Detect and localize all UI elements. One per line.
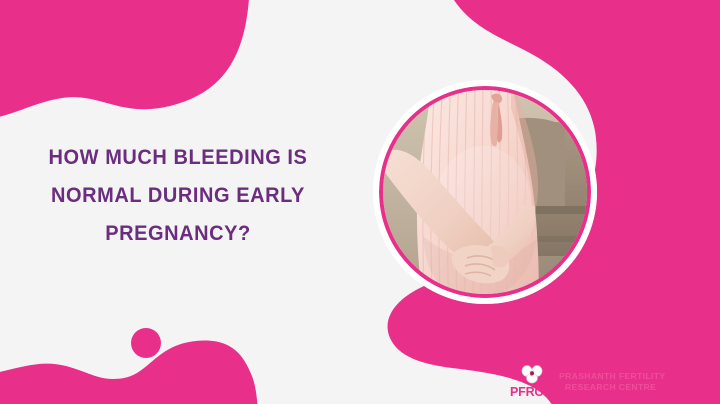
logo-name: PRASHANTH FERTILITY RESEARCH CENTRE: [559, 371, 665, 394]
headline-line-3: PREGNANCY?: [18, 214, 338, 252]
hero-photo-clip: [379, 86, 591, 298]
flower-emblem-icon: [521, 365, 543, 384]
headline-line-2: NORMAL DURING EARLY: [18, 176, 338, 214]
page-title: HOW MUCH BLEEDING IS NORMAL DURING EARLY…: [6, 138, 350, 252]
logo-name-line-1: PRASHANTH FERTILITY: [559, 371, 665, 382]
logo-mark: PFRC: [510, 365, 554, 399]
headline-line-1: HOW MUCH BLEEDING IS: [18, 138, 338, 176]
hero-photo-image: [379, 86, 591, 298]
top-left-blob: [0, 0, 250, 122]
poster-canvas: HOW MUCH BLEEDING IS NORMAL DURING EARLY…: [0, 0, 720, 404]
logo-wordmark: PFRC: [510, 386, 554, 398]
logo-name-line-2: RESEARCH CENTRE: [559, 382, 665, 393]
hero-photo: [373, 80, 597, 304]
brand-logo: PFRC PRASHANTH FERTILITY RESEARCH CENTRE: [510, 365, 665, 399]
pregnant-woman-illustration: [379, 86, 591, 298]
pink-dot: [131, 328, 161, 358]
bottom-left-blob: [0, 340, 258, 404]
